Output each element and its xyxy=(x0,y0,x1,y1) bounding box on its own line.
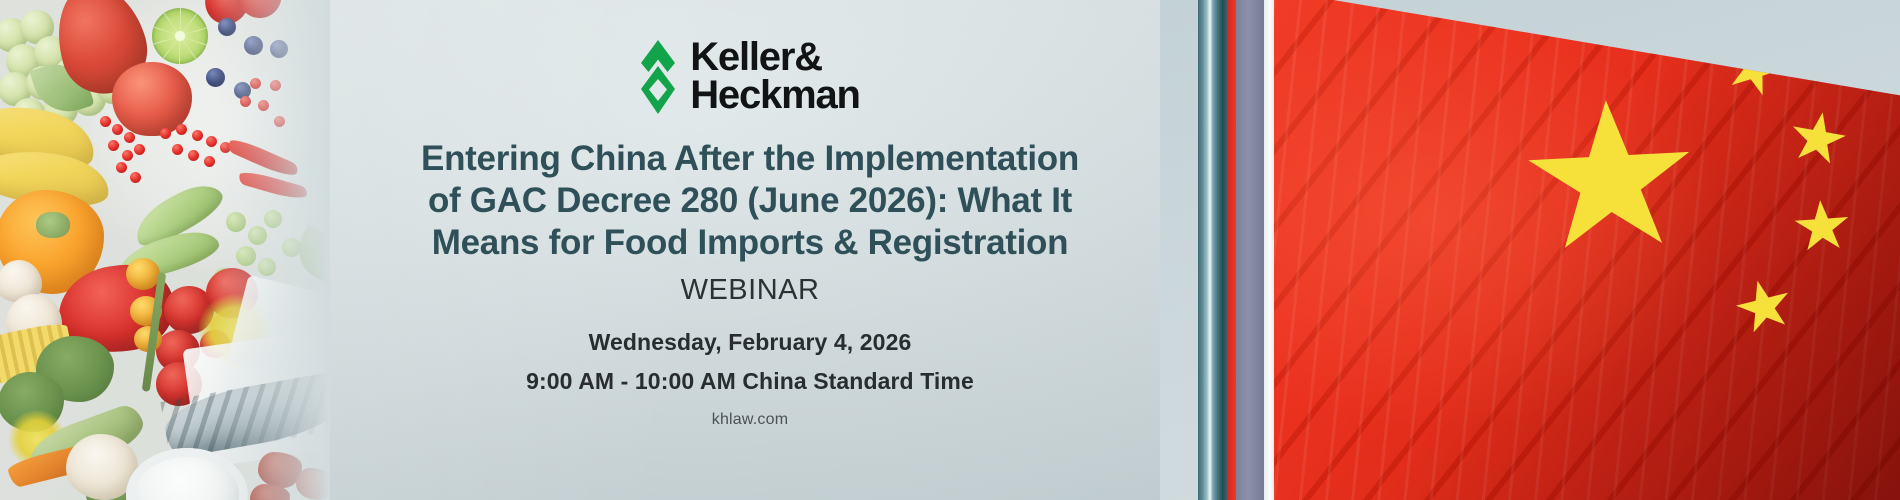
logo-name-line2: Heckman xyxy=(690,77,859,115)
red-currant xyxy=(188,150,199,161)
lime-half xyxy=(152,8,208,64)
webinar-banner: Keller& Heckman Entering China After the… xyxy=(0,0,1900,500)
event-date: Wednesday, February 4, 2026 xyxy=(589,329,912,356)
food-flat-lay-photo xyxy=(0,0,330,500)
red-currant xyxy=(122,150,133,161)
green-pea xyxy=(226,212,246,232)
red-currant xyxy=(130,172,141,183)
flag-hem-red-strip xyxy=(1227,0,1236,500)
red-currant xyxy=(192,130,203,141)
flag-hem-gray-band xyxy=(1236,0,1264,500)
red-currant xyxy=(258,100,269,111)
red-currant xyxy=(176,124,187,135)
flagpole xyxy=(1198,0,1222,500)
red-currant xyxy=(108,140,119,151)
double-diamond-chevron-icon xyxy=(640,38,676,116)
red-currant xyxy=(100,116,111,127)
blueberry xyxy=(244,36,263,55)
red-currant xyxy=(160,128,171,139)
headline-line-2: of GAC Decree 280 (June 2026): What It xyxy=(421,180,1079,222)
event-time: 9:00 AM - 10:00 AM China Standard Time xyxy=(526,368,974,395)
red-currant xyxy=(270,80,281,91)
red-currant xyxy=(250,78,261,89)
logo-wordmark: Keller& Heckman xyxy=(690,39,859,114)
headline-line-3: Means for Food Imports & Registration xyxy=(421,222,1079,264)
red-currant xyxy=(172,144,183,155)
green-pea xyxy=(248,226,267,245)
red-currant xyxy=(112,124,123,135)
yellow-tomato xyxy=(126,258,160,290)
red-currant xyxy=(116,162,127,173)
green-pea xyxy=(264,210,282,228)
logo-name-line1: Keller& xyxy=(690,39,859,77)
red-currant xyxy=(204,156,215,167)
green-pea xyxy=(236,246,256,266)
page-title: Entering China After the Implementation … xyxy=(421,138,1079,264)
red-currant xyxy=(124,132,135,143)
banner-content: Keller& Heckman Entering China After the… xyxy=(330,0,1170,500)
red-currant xyxy=(274,116,285,127)
red-currant xyxy=(134,144,145,155)
event-type-label: WEBINAR xyxy=(681,274,820,307)
blueberry xyxy=(270,40,288,58)
blueberry xyxy=(206,68,225,87)
pepper-stem xyxy=(36,212,70,238)
red-currant xyxy=(206,136,217,147)
blueberry xyxy=(218,18,236,36)
website-url: khlaw.com xyxy=(712,411,789,429)
green-pea xyxy=(258,258,276,276)
china-flag-photo xyxy=(1160,0,1900,500)
red-currant xyxy=(240,96,251,107)
headline-line-1: Entering China After the Implementation xyxy=(421,138,1079,180)
keller-heckman-logo[interactable]: Keller& Heckman xyxy=(640,38,859,116)
